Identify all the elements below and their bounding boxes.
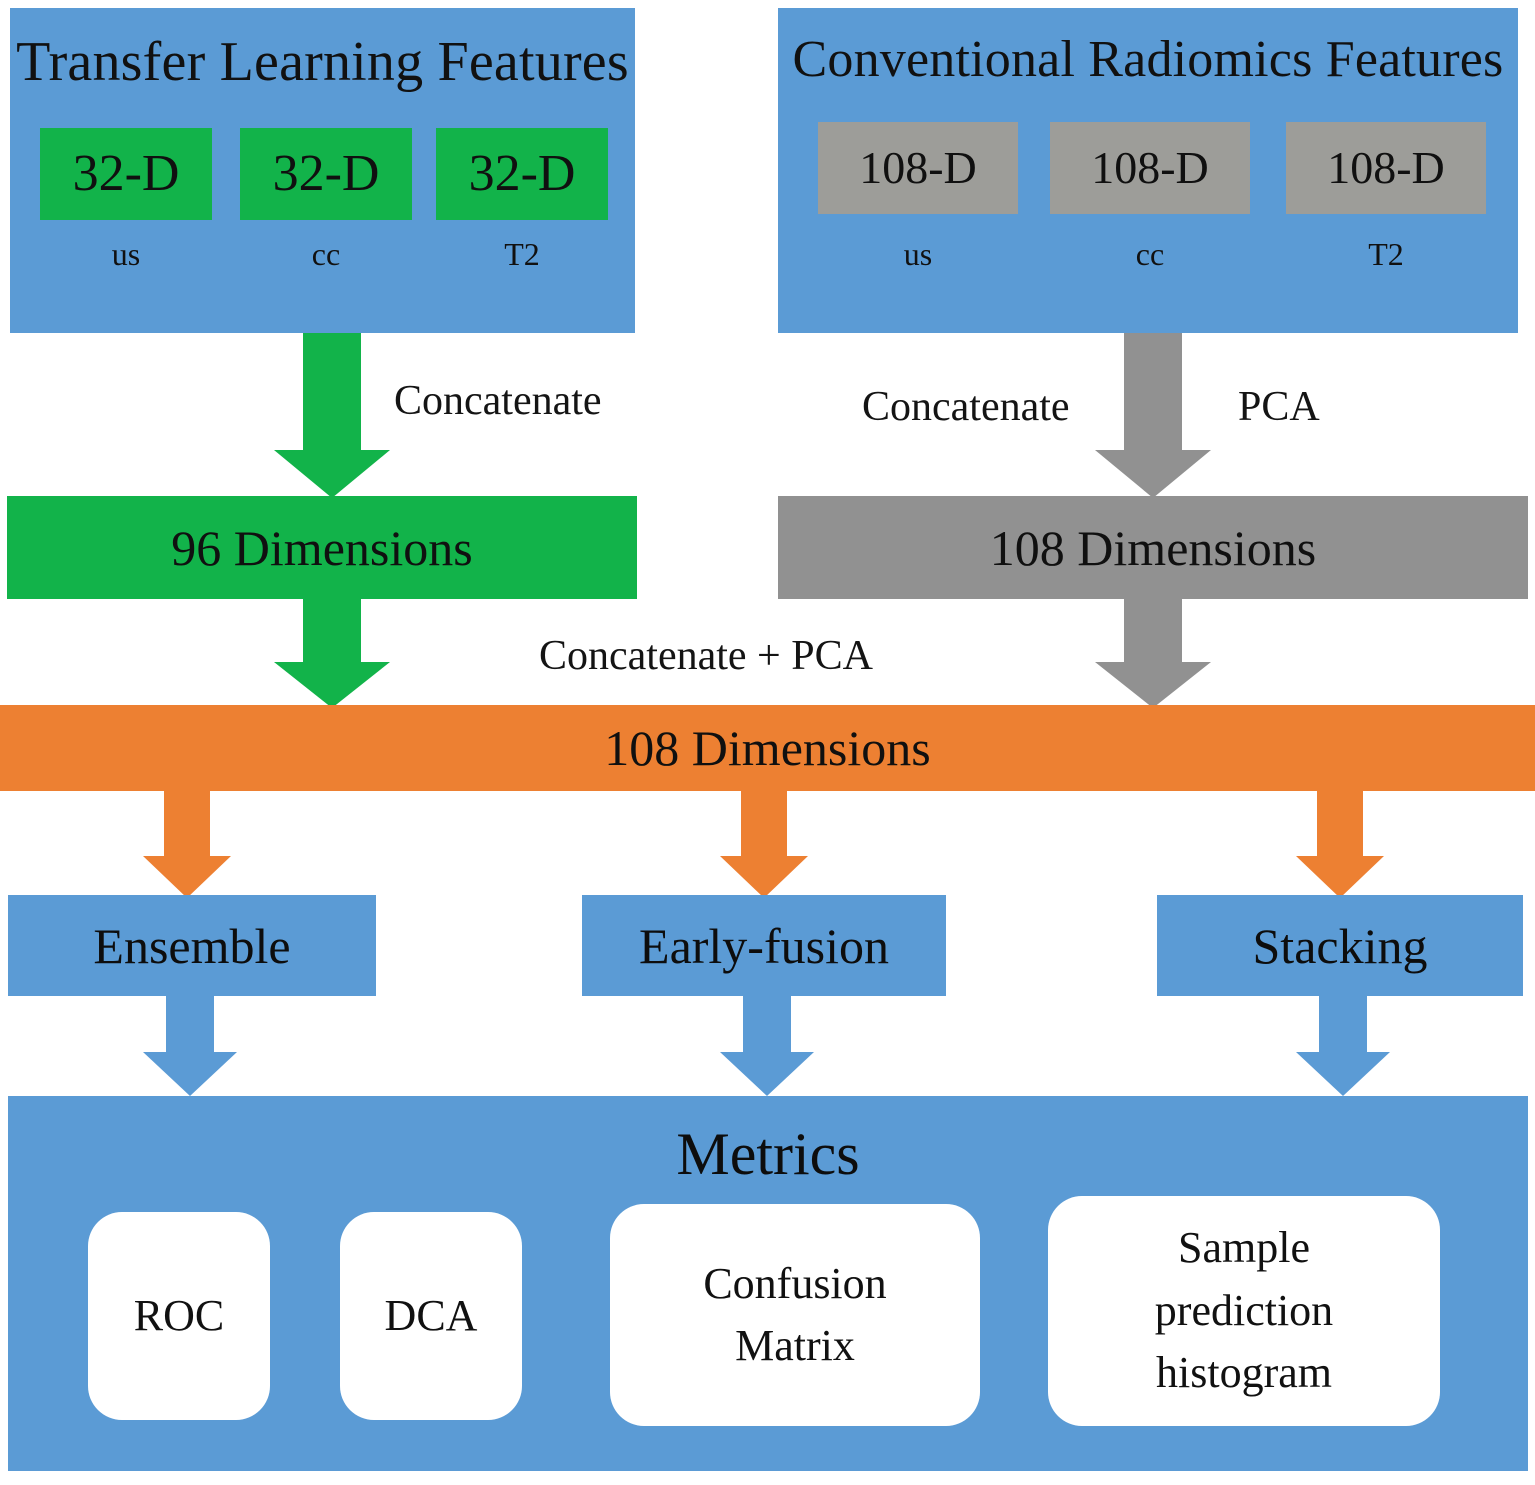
metric-card-sample-prediction-histogram[interactable]: Sample prediction histogram	[1048, 1196, 1440, 1426]
feature-caption-cr-t2: T2	[1286, 236, 1486, 273]
arrow-shaft	[166, 996, 214, 1054]
feature-chip-cr-us-label: 108-D	[859, 145, 977, 191]
feature-caption-tl-us: us	[40, 236, 212, 273]
arrow-radiomics-concatenate-pca	[1073, 333, 1233, 498]
conventional-radiomics-panel-title: Conventional Radiomics Features	[778, 30, 1518, 89]
metric-card-roc[interactable]: ROC	[88, 1212, 270, 1420]
feature-chip-tl-cc-label: 32-D	[273, 148, 380, 200]
arrow-transfer-learning-concatenate	[252, 333, 412, 498]
feature-chip-cr-cc: 108-D	[1050, 122, 1250, 214]
arrow-shaft	[303, 598, 361, 666]
arrow-head-icon	[274, 662, 390, 708]
arrow-label-fusion-concatenate-pca: Concatenate + PCA	[539, 632, 873, 680]
arrow-shaft	[1124, 333, 1182, 458]
arrow-label-right-pca: PCA	[1238, 383, 1320, 431]
arrow-fusion-to-early-fusion	[709, 790, 819, 898]
metric-card-sample-prediction-histogram-label: Sample prediction histogram	[1155, 1217, 1333, 1404]
metric-card-dca[interactable]: DCA	[340, 1212, 522, 1420]
feature-chip-tl-t2-label: 32-D	[469, 148, 576, 200]
metric-card-dca-label: DCA	[385, 1285, 478, 1347]
arrow-early-fusion-to-metrics	[707, 996, 827, 1096]
dimension-bar-radiomics: 108 Dimensions	[778, 496, 1528, 599]
arrow-head-icon	[1296, 1052, 1390, 1096]
dimension-bar-fused-label: 108 Dimensions	[604, 719, 930, 777]
method-box-ensemble[interactable]: Ensemble	[8, 895, 376, 996]
arrow-shaft	[1317, 790, 1363, 858]
method-box-stacking[interactable]: Stacking	[1157, 895, 1523, 996]
dimension-bar-transfer-learning-label: 96 Dimensions	[171, 519, 472, 577]
arrow-shaft	[743, 996, 791, 1054]
arrow-ensemble-to-metrics	[130, 996, 250, 1096]
arrow-shaft	[1124, 598, 1182, 666]
method-box-early-fusion-label: Early-fusion	[639, 917, 889, 975]
method-box-ensemble-label: Ensemble	[93, 917, 290, 975]
feature-chip-tl-cc: 32-D	[240, 128, 412, 220]
arrow-green-to-fusion	[252, 598, 412, 708]
arrow-head-icon	[720, 856, 808, 898]
dimension-bar-transfer-learning: 96 Dimensions	[7, 496, 637, 599]
arrow-shaft	[1319, 996, 1367, 1054]
arrow-head-icon	[143, 1052, 237, 1096]
metrics-panel-title: Metrics	[8, 1120, 1528, 1189]
arrow-shaft	[741, 790, 787, 858]
method-box-stacking-label: Stacking	[1253, 917, 1428, 975]
feature-caption-tl-cc: cc	[240, 236, 412, 273]
feature-caption-tl-t2: T2	[436, 236, 608, 273]
arrow-head-icon	[1296, 856, 1384, 898]
pipeline-diagram: Transfer Learning Features 32-D us 32-D …	[0, 0, 1535, 1485]
feature-chip-tl-us-label: 32-D	[73, 148, 180, 200]
arrow-head-icon	[1095, 662, 1211, 708]
feature-caption-cr-us: us	[818, 236, 1018, 273]
metric-card-roc-label: ROC	[134, 1285, 224, 1347]
arrow-head-icon	[720, 1052, 814, 1096]
arrow-shaft	[303, 333, 361, 458]
arrow-stacking-to-metrics	[1283, 996, 1403, 1096]
feature-chip-tl-us: 32-D	[40, 128, 212, 220]
feature-chip-cr-t2-label: 108-D	[1327, 145, 1445, 191]
arrow-gray-to-fusion	[1073, 598, 1233, 708]
arrow-head-icon	[274, 450, 390, 498]
arrow-fusion-to-ensemble	[132, 790, 242, 898]
arrow-fusion-to-stacking	[1285, 790, 1395, 898]
feature-chip-tl-t2: 32-D	[436, 128, 608, 220]
metric-card-confusion-matrix[interactable]: Confusion Matrix	[610, 1204, 980, 1426]
arrow-shaft	[164, 790, 210, 858]
metric-card-confusion-matrix-label: Confusion Matrix	[703, 1253, 886, 1378]
arrow-head-icon	[1095, 450, 1211, 498]
dimension-bar-radiomics-label: 108 Dimensions	[990, 519, 1316, 577]
transfer-learning-panel-title: Transfer Learning Features	[10, 30, 635, 94]
dimension-bar-fused: 108 Dimensions	[0, 705, 1535, 791]
arrow-label-left-concatenate: Concatenate	[394, 377, 602, 425]
method-box-early-fusion[interactable]: Early-fusion	[582, 895, 946, 996]
arrow-label-right-concatenate: Concatenate	[862, 383, 1070, 431]
arrow-head-icon	[143, 856, 231, 898]
feature-chip-cr-us: 108-D	[818, 122, 1018, 214]
feature-caption-cr-cc: cc	[1050, 236, 1250, 273]
feature-chip-cr-t2: 108-D	[1286, 122, 1486, 214]
feature-chip-cr-cc-label: 108-D	[1091, 145, 1209, 191]
